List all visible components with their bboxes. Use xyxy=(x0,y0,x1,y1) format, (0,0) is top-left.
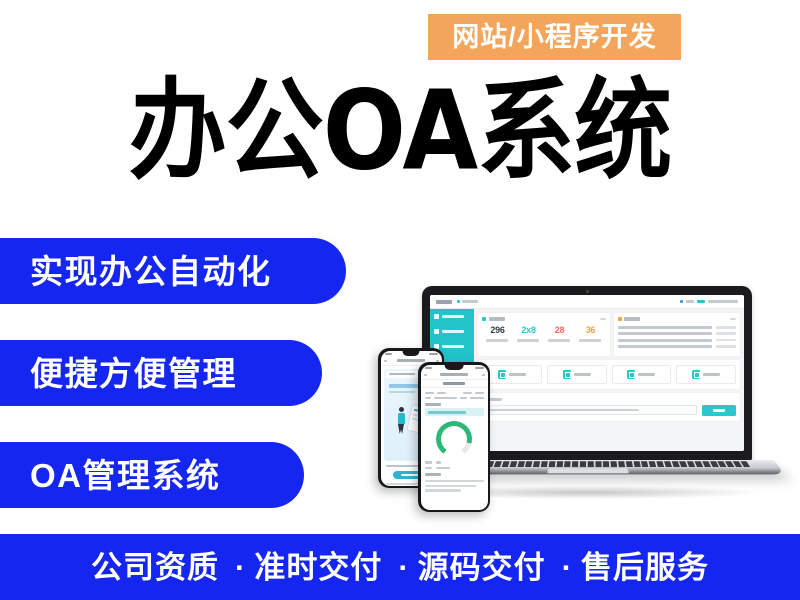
footer-bar: 公司资质 · 准时交付 · 源码交付 · 售后服务 xyxy=(0,534,800,600)
phone-kv-row xyxy=(425,467,484,469)
notice-card-title xyxy=(624,317,640,321)
notice-text xyxy=(618,339,712,342)
sidebar-item-3[interactable] xyxy=(434,344,470,349)
dashboard-topbar xyxy=(430,295,744,309)
meta-value xyxy=(437,392,446,394)
person-body xyxy=(398,413,405,424)
user-avatar-icon xyxy=(680,300,683,303)
sidebar-item-1-icon xyxy=(434,314,439,319)
page-title: 办公OA系统 xyxy=(0,72,800,193)
link-input-card xyxy=(478,393,740,421)
more-icon[interactable] xyxy=(482,374,485,377)
footer-separator: · xyxy=(382,552,417,583)
phone-front-navbar xyxy=(421,371,488,380)
meta-value xyxy=(470,397,483,399)
status-time xyxy=(425,367,432,369)
nav-label xyxy=(462,300,478,303)
quick-action-1-label xyxy=(509,373,526,376)
phone-front-subtitle-bar xyxy=(421,380,488,388)
status-signal-icon xyxy=(429,353,438,355)
phone-front-notch xyxy=(445,365,464,370)
sidebar-item-1-label xyxy=(442,315,464,319)
webcam-icon xyxy=(586,290,589,293)
link-input-row xyxy=(482,405,736,416)
user-name-label xyxy=(686,300,694,303)
nav-dot-icon xyxy=(457,300,460,303)
stat-item-1-label xyxy=(486,339,508,342)
stat-item-2-value: 2x8 xyxy=(517,326,539,335)
gauge-container xyxy=(421,421,488,457)
link-input-field[interactable] xyxy=(482,405,697,415)
stats-card-title xyxy=(489,317,505,321)
link-copy-button-label xyxy=(713,409,725,412)
quick-action-3[interactable] xyxy=(612,365,672,384)
stat-item-3-value: 28 xyxy=(548,326,570,335)
notice-text xyxy=(618,345,712,348)
poster-canvas: 网站/小程序开发 办公OA系统 实现办公自动化 便捷方便管理 OA管理系统 xyxy=(0,0,800,600)
notice-row[interactable] xyxy=(618,326,736,329)
footer-separator: · xyxy=(546,552,581,583)
footer-item-3: 源码交付 xyxy=(418,552,546,583)
quick-action-2[interactable] xyxy=(547,365,607,384)
sidebar-item-2-label xyxy=(442,330,464,334)
phone-kv-row xyxy=(425,461,484,463)
sidebar-item-2[interactable] xyxy=(434,329,470,334)
person-legs xyxy=(398,424,404,434)
back-arrow-icon[interactable] xyxy=(424,374,427,377)
meta-value xyxy=(475,392,484,394)
quick-action-4-label xyxy=(703,373,720,376)
stat-item-1-value: 296 xyxy=(486,326,508,335)
notice-row[interactable] xyxy=(618,332,736,335)
notice-date xyxy=(716,345,736,348)
phone-meta-row xyxy=(425,397,484,399)
quick-actions-card xyxy=(478,360,740,389)
logout-link[interactable] xyxy=(697,300,705,303)
link-input-placeholder xyxy=(486,409,639,412)
footer-item-4: 售后服务 xyxy=(581,552,709,583)
quick-action-4[interactable] xyxy=(676,365,736,384)
dashboard-user-area[interactable] xyxy=(680,300,738,303)
person-illustration-icon xyxy=(396,407,407,435)
stat-item-2-label xyxy=(517,339,539,342)
stat-item-4: 36 xyxy=(579,326,601,342)
stats-more-icon[interactable] xyxy=(600,318,606,320)
meta-key xyxy=(463,392,472,394)
notice-card xyxy=(614,313,740,356)
stats-card: 296 2x8 28 xyxy=(478,313,610,356)
notice-date xyxy=(716,339,736,342)
kv-value xyxy=(436,461,441,463)
quick-action-1[interactable] xyxy=(482,365,542,384)
feature-pill-2-label: 便捷方便管理 xyxy=(30,357,237,390)
notice-row[interactable] xyxy=(618,345,736,348)
quick-action-4-icon xyxy=(692,370,700,379)
feature-pill-1: 实现办公自动化 xyxy=(0,238,346,304)
text-line xyxy=(425,480,484,482)
stat-item-4-value: 36 xyxy=(579,326,601,335)
phone-highlight-row xyxy=(425,408,484,416)
quick-actions-row xyxy=(482,365,736,384)
text-line xyxy=(425,485,477,487)
quick-action-2-icon xyxy=(563,370,571,379)
stat-item-4-label xyxy=(579,339,601,342)
hero-subheading xyxy=(389,391,415,393)
footer-item-1: 公司资质 xyxy=(91,552,219,583)
stat-item-3: 28 xyxy=(548,326,570,342)
phone-back-notch xyxy=(402,351,419,356)
stat-item-1: 296 xyxy=(486,326,508,342)
kv-key xyxy=(425,461,432,463)
quick-action-1-icon xyxy=(498,370,506,379)
phone-section-label-2 xyxy=(425,473,441,476)
back-arrow-icon[interactable] xyxy=(384,360,387,363)
quick-action-3-icon xyxy=(627,370,635,379)
status-signal-icon xyxy=(475,367,484,369)
dashboard-top-row: 296 2x8 28 xyxy=(478,313,740,356)
notice-text xyxy=(618,332,712,335)
sidebar-item-3-label xyxy=(442,345,464,349)
quick-action-2-label xyxy=(574,373,591,376)
footer-item-2: 准时交付 xyxy=(254,552,382,583)
hero-subbar-title xyxy=(389,373,415,376)
phone-device-front xyxy=(418,362,490,512)
meta-value xyxy=(434,397,457,399)
notice-more-icon[interactable] xyxy=(730,318,736,320)
phone-text-block xyxy=(425,480,484,492)
notice-row[interactable] xyxy=(618,339,736,342)
device-mockup: 296 2x8 28 xyxy=(360,280,760,510)
kv-value xyxy=(436,467,450,469)
phone-front-subtitle xyxy=(443,382,465,385)
footer-separator: · xyxy=(219,552,254,583)
dashboard-nav-item[interactable] xyxy=(457,300,478,303)
quick-action-3-label xyxy=(638,373,655,376)
notice-icon xyxy=(618,317,622,321)
stat-item-3-label xyxy=(548,339,570,342)
notice-card-header xyxy=(618,317,736,321)
phone-meta-row xyxy=(425,392,484,394)
progress-gauge-icon xyxy=(436,421,472,457)
text-line xyxy=(425,489,462,491)
meta-key xyxy=(425,397,432,399)
sidebar-item-2-icon xyxy=(434,329,439,334)
dashboard-logo xyxy=(436,300,452,304)
notice-date xyxy=(716,332,736,335)
laptop-trackpad[interactable] xyxy=(547,468,629,474)
feature-pill-3: OA管理系统 xyxy=(0,442,304,508)
phone-front-screen xyxy=(421,365,488,510)
phone-back-title xyxy=(397,359,425,362)
phone-section-label xyxy=(425,403,441,406)
notice-text xyxy=(618,326,712,329)
kv-key xyxy=(425,467,432,469)
status-time xyxy=(385,353,392,355)
meta-key xyxy=(460,397,467,399)
highlight-text xyxy=(428,411,466,414)
stats-icon xyxy=(482,317,486,321)
meta-key xyxy=(425,392,434,394)
datetime-label xyxy=(708,300,738,303)
stat-item-2: 2x8 xyxy=(517,326,539,342)
phone-front-title xyxy=(440,373,468,376)
footer-items: 公司资质 · 准时交付 · 源码交付 · 售后服务 xyxy=(91,552,709,583)
stats-list: 296 2x8 28 xyxy=(482,326,606,342)
category-badge: 网站/小程序开发 xyxy=(428,14,681,60)
feature-pill-1-label: 实现办公自动化 xyxy=(30,255,272,288)
dashboard-main: 296 2x8 28 xyxy=(474,309,744,451)
person-head xyxy=(399,407,404,412)
sidebar-item-1[interactable] xyxy=(434,314,470,319)
category-badge-label: 网站/小程序开发 xyxy=(452,24,657,51)
feature-pill-2: 便捷方便管理 xyxy=(0,340,322,406)
feature-pill-3-label: OA管理系统 xyxy=(30,459,221,492)
link-copy-button[interactable] xyxy=(702,405,736,416)
stats-card-header xyxy=(482,317,606,321)
notice-date xyxy=(716,326,736,329)
phone-meta-block xyxy=(421,388,488,400)
